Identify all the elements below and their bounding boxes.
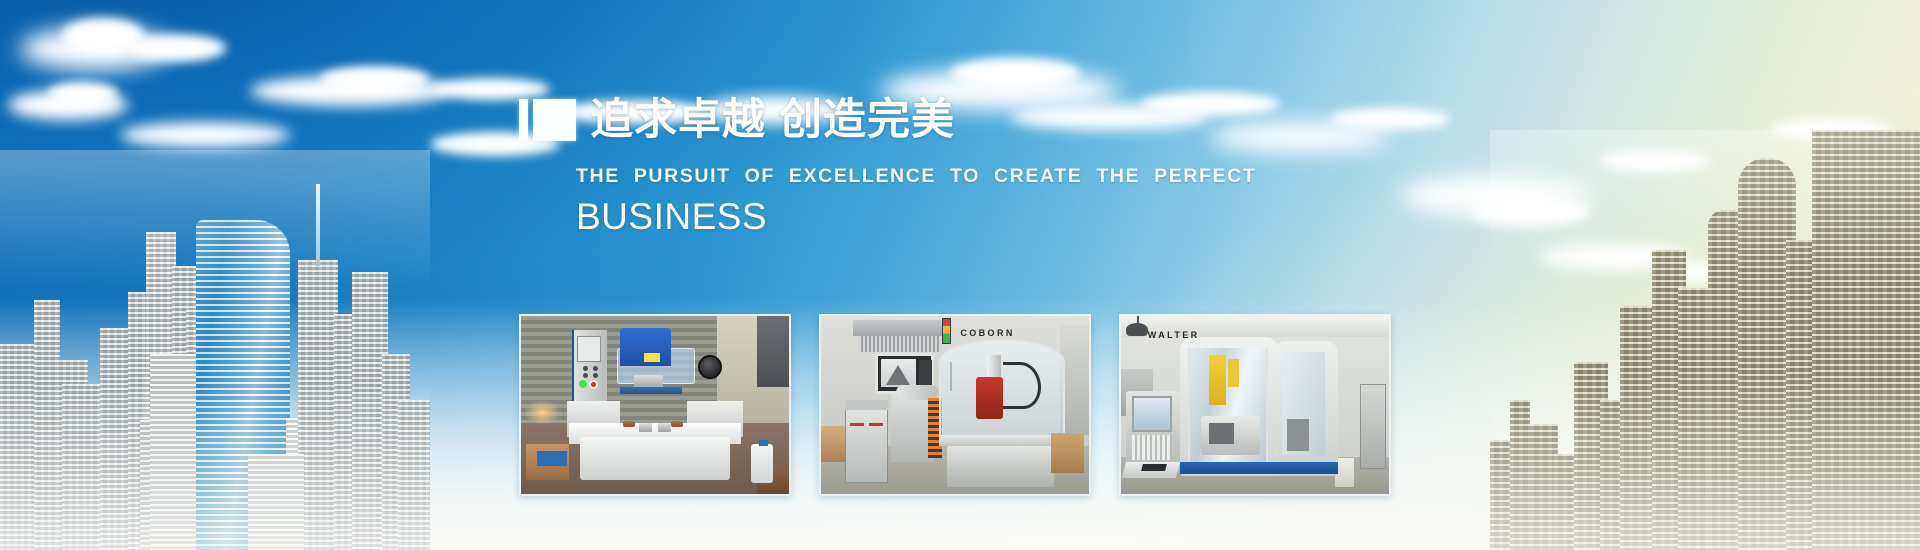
logo-bar-shape (519, 99, 528, 141)
cityscape-right (1490, 130, 1920, 550)
cityscape-left (0, 150, 430, 550)
photo-3-scene (1121, 316, 1389, 494)
subtitle-english: THE PURSUIT OF EXCELLENCE TO CREATE THE … (576, 165, 1419, 188)
photo-surface-grinding-machine[interactable] (519, 314, 791, 496)
business-word: BUSINESS (576, 197, 1419, 237)
logo-square-shape (533, 99, 576, 141)
hero-banner: 追求卓越 创造完美 THE PURSUIT OF EXCELLENCE TO C… (0, 0, 1920, 550)
banner-text-block: 追求卓越 创造完美 THE PURSUIT OF EXCELLENCE TO C… (519, 92, 1419, 237)
photo-walter-cnc-grinder[interactable]: WALTER (1119, 314, 1391, 496)
photo-1-scene (521, 316, 789, 494)
headline-chinese: 追求卓越 创造完美 (590, 99, 955, 142)
headline-row: 追求卓越 创造完美 (519, 92, 1419, 148)
square-bar-logo-icon (519, 99, 576, 141)
photo-2-scene (821, 316, 1089, 494)
machine-photo-strip: COBORN (519, 314, 1391, 496)
photo-coborn-machine[interactable]: COBORN (819, 314, 1091, 496)
photo-2-caption-coborn: COBORN (960, 328, 1014, 338)
photo-3-caption-walter: WALTER (1148, 330, 1200, 340)
